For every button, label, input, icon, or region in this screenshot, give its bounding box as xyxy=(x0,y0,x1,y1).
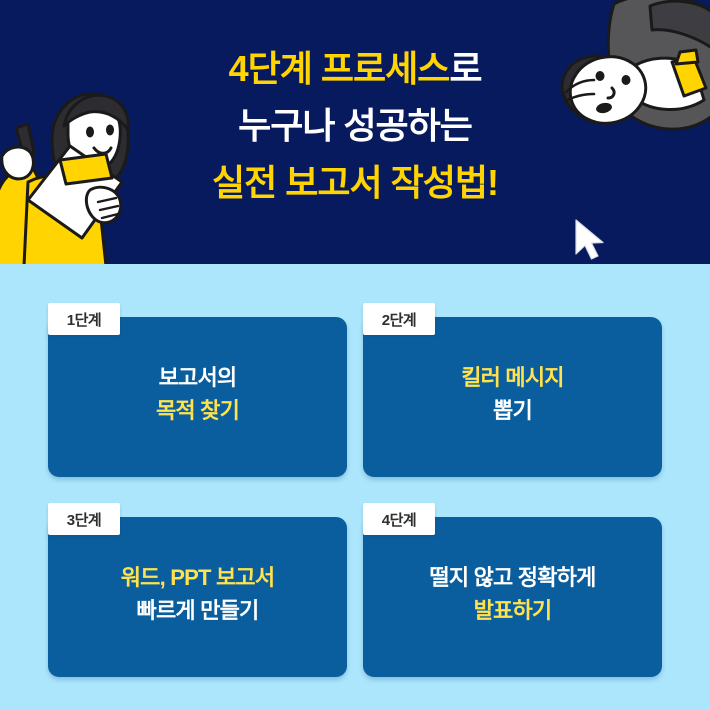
step-card-3-badge: 3단계 xyxy=(48,503,120,535)
hero-title-line-2: 누구나 성공하는 xyxy=(0,97,710,154)
step-card-1-line-2: 목적 찾기 xyxy=(156,394,239,427)
step-card-2-badge: 2단계 xyxy=(363,303,435,335)
step-card-4-badge: 4단계 xyxy=(363,503,435,535)
step-card-4-line-1: 떨지 않고 정확하게 xyxy=(429,561,595,594)
step-card-1-body[interactable]: 보고서의 목적 찾기 xyxy=(48,317,347,477)
step-card-3[interactable]: 워드, PPT 보고서 빠르게 만들기 3단계 xyxy=(48,503,347,677)
step-card-1-text: 보고서의 목적 찾기 xyxy=(156,361,239,427)
hero-banner: 4단계 프로세스로 누구나 성공하는 실전 보고서 작성법! xyxy=(0,0,710,264)
step-card-1-line-1: 보고서의 xyxy=(156,361,239,394)
step-card-2-body[interactable]: 킬러 메시지 뽑기 xyxy=(363,317,662,477)
step-card-4-line-2: 발표하기 xyxy=(429,594,595,627)
step-card-2[interactable]: 킬러 메시지 뽑기 2단계 xyxy=(363,303,662,477)
hero-title-line-3: 실전 보고서 작성법! xyxy=(0,154,710,211)
step-card-3-line-2: 빠르게 만들기 xyxy=(121,594,275,627)
hero-title-line-1: 4단계 프로세스로 xyxy=(0,40,710,97)
step-card-1-badge: 1단계 xyxy=(48,303,120,335)
step-card-4[interactable]: 떨지 않고 정확하게 발표하기 4단계 xyxy=(363,503,662,677)
step-card-4-text: 떨지 않고 정확하게 발표하기 xyxy=(429,561,595,627)
steps-grid: 보고서의 목적 찾기 1단계 킬러 메시지 뽑기 2단계 워드, PPT 보고서… xyxy=(48,303,662,677)
poster-root: 4단계 프로세스로 누구나 성공하는 실전 보고서 작성법! 보고서의 목적 찾… xyxy=(0,0,710,710)
hero-title-line-1-white: 로 xyxy=(449,48,481,89)
step-card-3-text: 워드, PPT 보고서 빠르게 만들기 xyxy=(121,561,275,627)
hero-title: 4단계 프로세스로 누구나 성공하는 실전 보고서 작성법! xyxy=(0,40,710,211)
mouse-cursor-arrow-icon xyxy=(572,218,612,264)
step-card-1[interactable]: 보고서의 목적 찾기 1단계 xyxy=(48,303,347,477)
step-card-3-body[interactable]: 워드, PPT 보고서 빠르게 만들기 xyxy=(48,517,347,677)
step-card-2-line-2: 뽑기 xyxy=(461,394,564,427)
step-card-2-line-1: 킬러 메시지 xyxy=(461,361,564,394)
step-card-2-text: 킬러 메시지 뽑기 xyxy=(461,361,564,427)
step-card-3-line-1: 워드, PPT 보고서 xyxy=(121,561,275,594)
step-card-4-body[interactable]: 떨지 않고 정확하게 발표하기 xyxy=(363,517,662,677)
hero-title-line-1-yellow: 4단계 프로세스 xyxy=(229,48,450,89)
